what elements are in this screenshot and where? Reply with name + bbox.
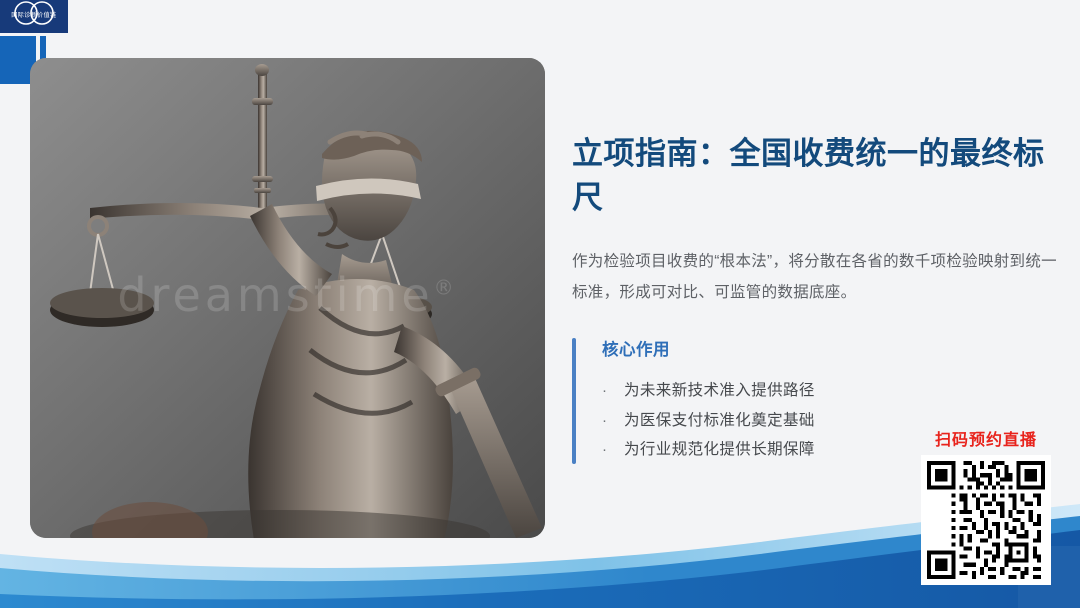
live-reservation-qr-code[interactable]	[921, 455, 1051, 585]
logo-badge[interactable]: 国际诊断价值链	[0, 0, 68, 33]
bullet-icon: ·	[602, 383, 624, 398]
slide-canvas: 国际诊断价值链	[0, 0, 1080, 608]
list-item-label: 为行业规范化提供长期保障	[624, 442, 815, 458]
logo-text: 国际诊断价值链	[11, 13, 56, 19]
qr-caption: 扫码预约直播	[911, 431, 1061, 450]
content-column: 立项指南：全国收费统一的最终标尺 作为检验项目收费的“根本法”，将分散在各省的数…	[572, 132, 1064, 465]
qr-section: 扫码预约直播	[911, 431, 1061, 585]
intro-paragraph: 作为检验项目收费的“根本法”，将分散在各省的数千项检验映射到统一标准，形成可对比…	[572, 246, 1064, 308]
statue-illustration	[30, 58, 545, 538]
page-title: 立项指南：全国收费统一的最终标尺	[572, 132, 1064, 220]
qr-code-icon	[927, 461, 1045, 579]
list-item-label: 为未来新技术准入提供路径	[624, 383, 815, 399]
lady-justice-photo: dreamstime®	[30, 58, 545, 538]
core-role-heading: 核心作用	[602, 336, 1064, 360]
bullet-icon: ·	[602, 413, 624, 428]
list-item-label: 为医保支付标准化奠定基础	[624, 413, 815, 429]
list-item: · 为未来新技术准入提供路径	[602, 376, 1064, 406]
bullet-icon: ·	[602, 442, 624, 457]
core-role-accent-bar	[572, 338, 576, 464]
